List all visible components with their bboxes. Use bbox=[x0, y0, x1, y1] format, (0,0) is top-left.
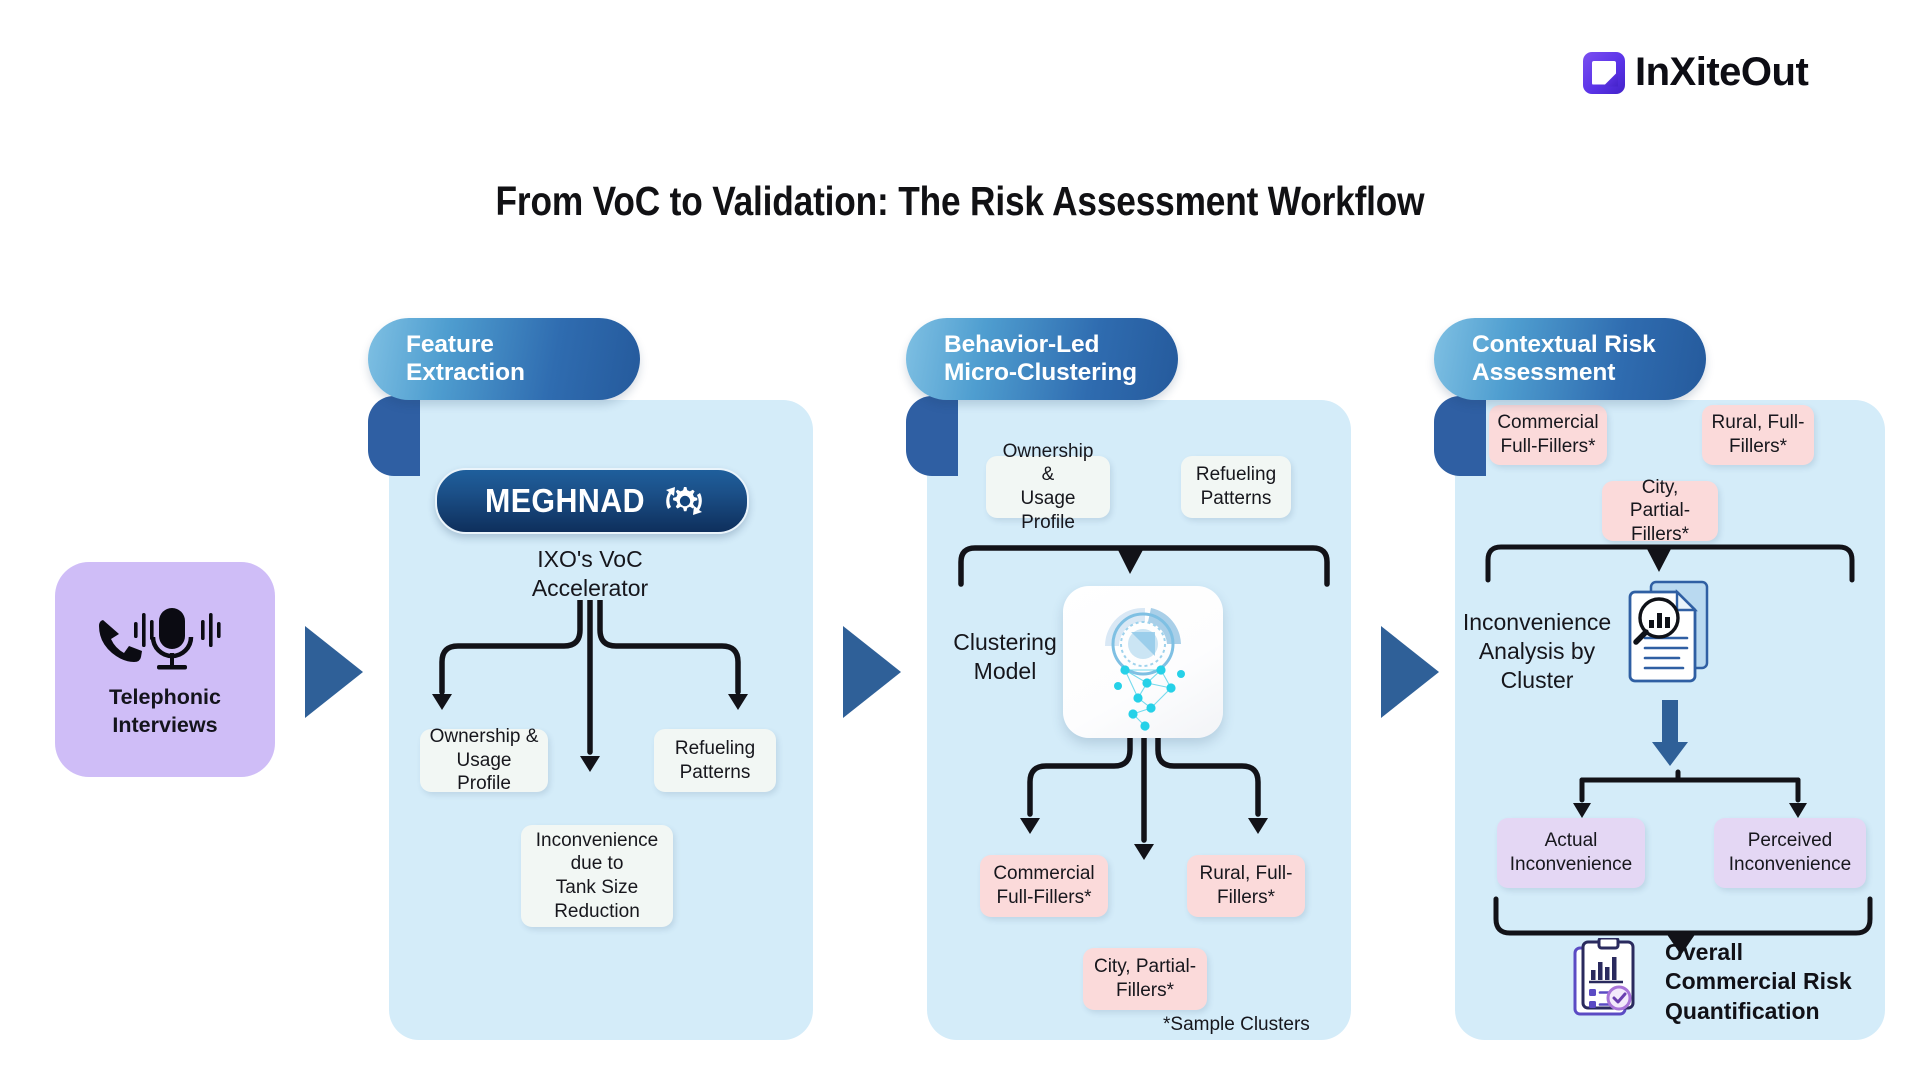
page-title: From VoC to Validation: The Risk Assessm… bbox=[134, 178, 1785, 225]
cluster-box-commercial-full-fillers[interactable]: CommercialFull-Fillers* bbox=[980, 855, 1108, 917]
stage-tab-3 bbox=[1434, 396, 1486, 476]
meghnad-label: MEGHNAD bbox=[485, 482, 645, 520]
risk-cluster-box-commercial[interactable]: CommercialFull-Fillers* bbox=[1489, 405, 1607, 465]
stage-header-contextual-risk[interactable]: Contextual RiskAssessment bbox=[1434, 318, 1706, 400]
input-box-ownership-usage[interactable]: Ownership &Usage Profile bbox=[986, 456, 1110, 518]
stage-header-label: Contextual RiskAssessment bbox=[1472, 331, 1656, 387]
stage-header-label: Behavior-LedMicro-Clustering bbox=[944, 331, 1137, 387]
inxiteout-logo-icon bbox=[1583, 52, 1625, 94]
stage-tab-1 bbox=[368, 396, 420, 476]
inconvenience-analysis-label: Inconvenience Analysis by Cluster bbox=[1452, 608, 1622, 696]
output-box-refueling-patterns[interactable]: RefuelingPatterns bbox=[654, 729, 776, 792]
flow-arrow-2 bbox=[843, 626, 901, 718]
brand-logo: InXiteOut bbox=[1583, 50, 1808, 95]
meghnad-caption: IXO's VoC Accelerator bbox=[435, 545, 745, 603]
clustering-model-label: ClusteringModel bbox=[945, 628, 1065, 686]
gear-refresh-icon bbox=[662, 479, 706, 523]
stage-header-feature-extraction[interactable]: Feature Extraction bbox=[368, 318, 640, 400]
measure-box-actual-inconvenience[interactable]: ActualInconvenience bbox=[1497, 818, 1645, 888]
output-box-ownership-usage[interactable]: Ownership &Usage Profile bbox=[420, 729, 548, 792]
cluster-box-rural-full-fillers[interactable]: Rural, Full-Fillers* bbox=[1187, 855, 1305, 917]
stage2-split-arrows bbox=[1010, 738, 1280, 860]
sample-clusters-footnote: *Sample Clusters bbox=[1163, 1014, 1310, 1036]
measure-box-perceived-inconvenience[interactable]: PerceivedInconvenience bbox=[1714, 818, 1866, 888]
stage-header-label: Feature Extraction bbox=[406, 331, 602, 387]
source-node-label: Telephonic Interviews bbox=[109, 684, 221, 739]
brand-name: InXiteOut bbox=[1635, 50, 1808, 95]
risk-cluster-box-city[interactable]: City, Partial-Fillers* bbox=[1602, 481, 1718, 541]
clipboard-chart-check-icon bbox=[1565, 938, 1641, 1020]
flow-arrow-3 bbox=[1381, 626, 1439, 718]
risk-cluster-box-rural[interactable]: Rural, Full-Fillers* bbox=[1702, 405, 1814, 465]
cluster-box-city-partial-fillers[interactable]: City, Partial-Fillers* bbox=[1083, 948, 1207, 1010]
stage3-split-arrows bbox=[1560, 700, 1840, 820]
document-magnifier-chart-icon bbox=[1625, 578, 1725, 696]
overall-risk-quantification-label: Overall Commercial Risk Quantification bbox=[1665, 938, 1852, 1026]
stage-tab-2 bbox=[906, 396, 958, 476]
source-node-telephonic-interviews[interactable]: Telephonic Interviews bbox=[55, 562, 275, 777]
output-box-inconvenience-tank-size[interactable]: Inconveniencedue toTank SizeReduction bbox=[521, 825, 673, 927]
meghnad-badge[interactable]: MEGHNAD bbox=[435, 468, 749, 534]
flow-arrow-1 bbox=[305, 626, 363, 718]
phone-microphone-icon bbox=[90, 600, 240, 678]
stage-header-micro-clustering[interactable]: Behavior-LedMicro-Clustering bbox=[906, 318, 1178, 400]
input-box-refueling-patterns[interactable]: RefuelingPatterns bbox=[1181, 456, 1291, 518]
neural-network-cluster-icon bbox=[1063, 586, 1223, 738]
